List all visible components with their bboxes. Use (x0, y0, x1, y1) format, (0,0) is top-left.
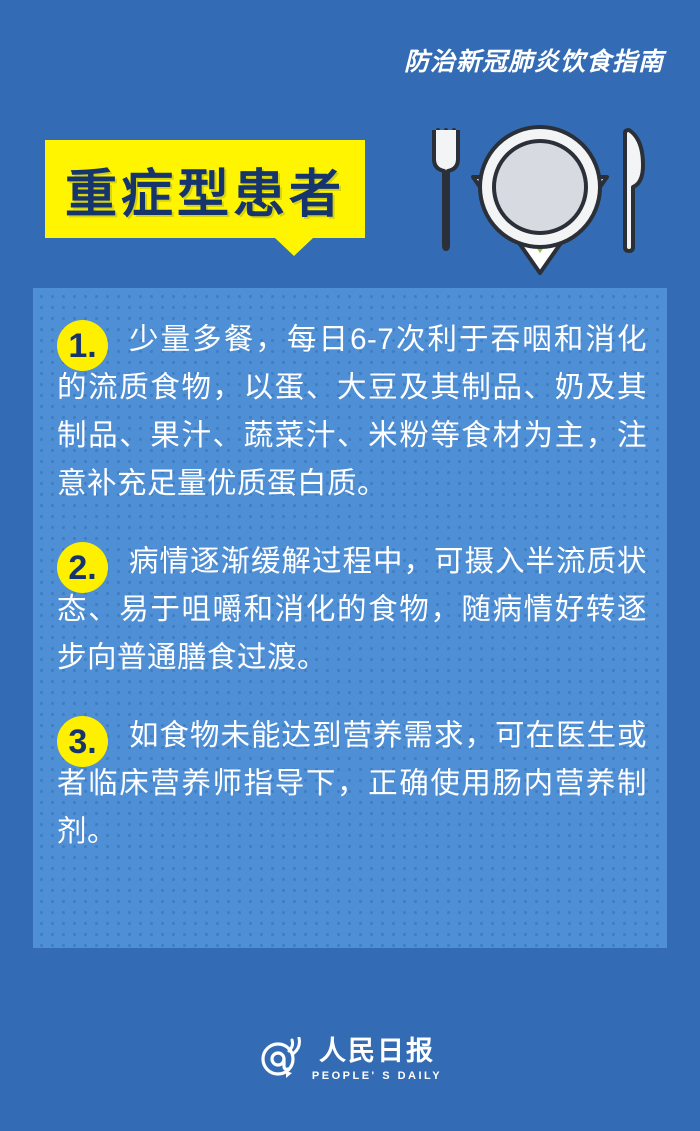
logo-chinese-name: 人民日报 (319, 1038, 435, 1065)
logo-english-name: PEOPLE' S DAILY (312, 1070, 442, 1082)
logo-text-column: 人民日报 PEOPLE' S DAILY (312, 1038, 442, 1082)
item-number-badge: 2. (57, 542, 108, 593)
advice-list: 1. 少量多餐，每日6-7次利于吞咽和消化的流质食物，以蛋、大豆及其制品、奶及其… (57, 316, 647, 886)
item-text: 如食物未能达到营养需求，可在医生或者临床营养师指导下，正确使用肠内营养制剂。 (57, 712, 647, 856)
plate-fork-knife-location-pin-icon (415, 125, 665, 280)
page-header-title: 防治新冠肺炎饮食指南 (404, 42, 664, 78)
icon-svg (415, 125, 665, 280)
item-number-badge: 1. (57, 320, 108, 371)
item-text: 少量多餐，每日6-7次利于吞咽和消化的流质食物，以蛋、大豆及其制品、奶及其制品、… (57, 316, 647, 508)
fork-icon (434, 130, 458, 249)
footer-logo: 人民日报 PEOPLE' S DAILY (0, 1037, 700, 1083)
banner-title-text: 重症型患者 (45, 140, 365, 238)
banner-tail-pointer (275, 238, 313, 256)
list-item: 1. 少量多餐，每日6-7次利于吞咽和消化的流质食物，以蛋、大豆及其制品、奶及其… (57, 316, 647, 508)
item-number-badge: 3. (57, 716, 108, 767)
content-panel: 1. 少量多餐，每日6-7次利于吞咽和消化的流质食物，以蛋、大豆及其制品、奶及其… (33, 288, 667, 948)
item-text: 病情逐渐缓解过程中，可摄入半流质状态、易于咀嚼和消化的食物，随病情好转逐步向普通… (57, 538, 647, 682)
infographic-page: 防治新冠肺炎饮食指南 重症型患者 (0, 0, 700, 1131)
at-sign-speech-icon (258, 1037, 304, 1083)
list-item: 3. 如食物未能达到营养需求，可在医生或者临床营养师指导下，正确使用肠内营养制剂… (57, 712, 647, 856)
knife-icon (625, 130, 643, 251)
title-banner: 重症型患者 (45, 140, 365, 238)
plate-icon (480, 127, 600, 247)
list-item: 2. 病情逐渐缓解过程中，可摄入半流质状态、易于咀嚼和消化的食物，随病情好转逐步… (57, 538, 647, 682)
